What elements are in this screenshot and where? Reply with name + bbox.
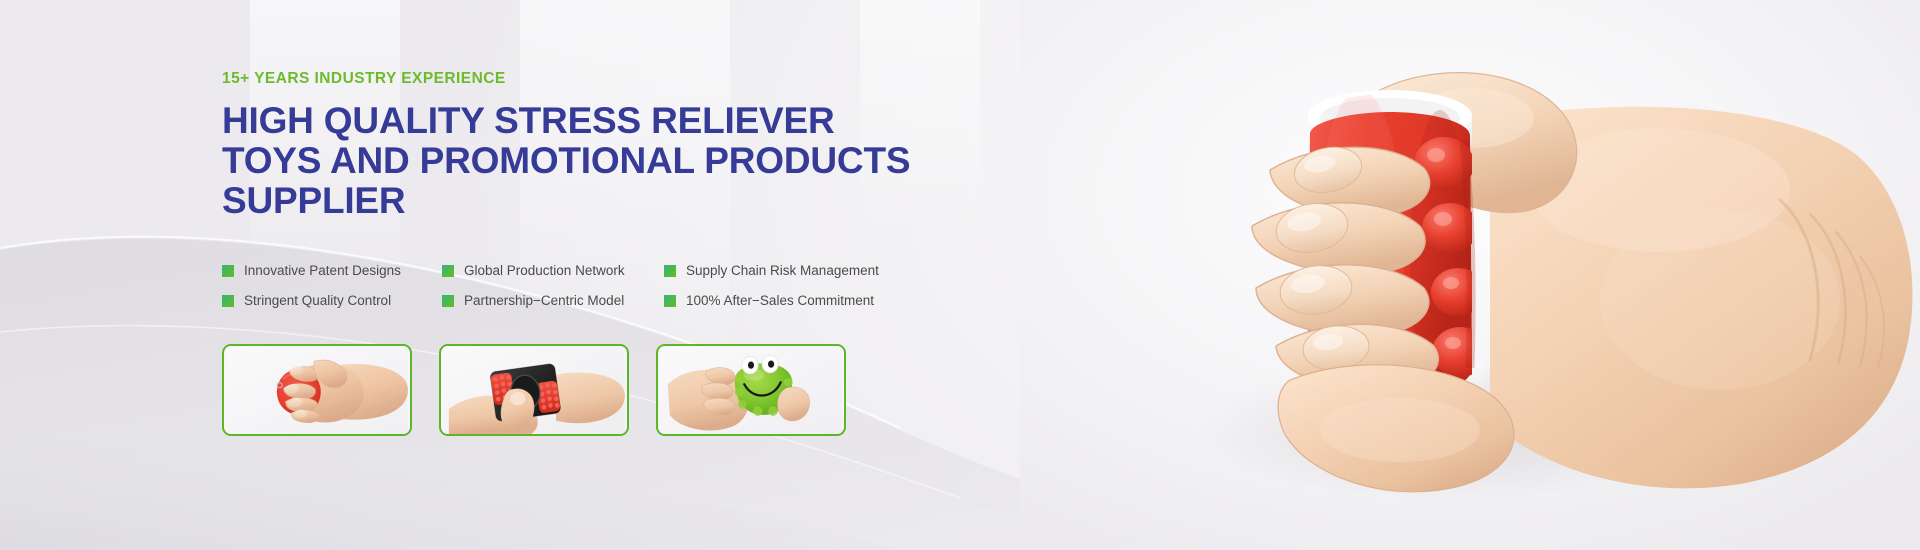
banner-content: 15+ YEARS INDUSTRY EXPERIENCE HIGH QUALI… [222, 70, 982, 436]
bullet-square-icon [664, 265, 676, 277]
feature-item-stringent-quality-control: Stringent Quality Control [222, 293, 442, 309]
bullet-square-icon [442, 295, 454, 307]
feature-label: 100% After−Sales Commitment [686, 293, 874, 309]
hero-banner: 15+ YEARS INDUSTRY EXPERIENCE HIGH QUALI… [0, 0, 1920, 550]
feature-label: Partnership−Centric Model [464, 293, 624, 309]
feature-list: Innovative Patent Designs Global Product… [222, 256, 982, 316]
page-title: HIGH QUALITY STRESS RELIEVER TOYS AND PR… [222, 101, 912, 221]
feature-item-global-production-network: Global Production Network [442, 263, 664, 279]
feature-item-after-sales-commitment: 100% After−Sales Commitment [664, 293, 982, 309]
feature-label: Global Production Network [464, 263, 625, 279]
feature-item-innovative-patent-designs: Innovative Patent Designs [222, 263, 442, 279]
thumbnail-card-massage-roller[interactable] [439, 344, 629, 436]
feature-label: Supply Chain Risk Management [686, 263, 879, 279]
feature-item-partnership-centric-model: Partnership−Centric Model [442, 293, 664, 309]
feature-item-supply-chain-risk-management: Supply Chain Risk Management [664, 263, 982, 279]
thumbnail-card-red-donut-stress-ball[interactable] [222, 344, 412, 436]
bullet-square-icon [442, 265, 454, 277]
eyebrow-text: 15+ YEARS INDUSTRY EXPERIENCE [222, 70, 982, 89]
bullet-square-icon [222, 295, 234, 307]
bullet-square-icon [222, 265, 234, 277]
hero-product-image [1020, 0, 1920, 550]
red-donut-stress-ball-in-hand-image [224, 346, 410, 434]
green-frog-stress-toy-in-hand-image [658, 346, 844, 434]
thumbnail-gallery [222, 344, 982, 436]
thumbnail-card-green-frog-toy[interactable] [656, 344, 846, 436]
feature-label: Stringent Quality Control [244, 293, 391, 309]
feature-label: Innovative Patent Designs [244, 263, 401, 279]
bullet-square-icon [664, 295, 676, 307]
black-red-massage-roller-on-wrist-image [441, 346, 627, 434]
